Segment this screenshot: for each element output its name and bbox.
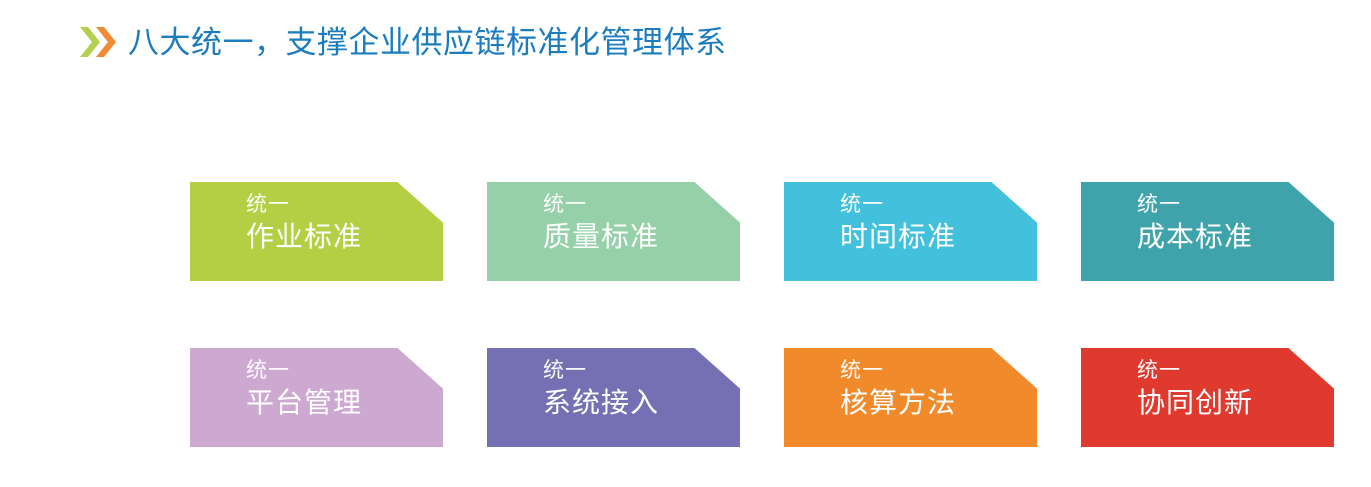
card-line-2: 成本标准 <box>1137 219 1334 255</box>
card-line-2: 系统接入 <box>543 385 740 421</box>
card-line-1: 统一 <box>1137 193 1334 217</box>
card-line-2: 作业标准 <box>246 219 443 255</box>
standard-card[interactable]: 统一 系统接入 <box>487 348 740 447</box>
standard-card[interactable]: 统一 成本标准 <box>1081 182 1334 281</box>
page-title: 八大统一，支撑企业供应链标准化管理体系 <box>128 27 727 58</box>
page-title-row: 八大统一，支撑企业供应链标准化管理体系 <box>78 18 727 66</box>
standard-card[interactable]: 统一 协同创新 <box>1081 348 1334 447</box>
card-line-2: 时间标准 <box>840 219 1037 255</box>
card-row-1: 统一 作业标准 统一 质量标准 统一 时间标准 统一 成本标准 <box>190 182 1337 281</box>
card-line-1: 统一 <box>1137 359 1334 383</box>
card-line-2: 协同创新 <box>1137 385 1334 421</box>
standard-card[interactable]: 统一 质量标准 <box>487 182 740 281</box>
unified-standards-grid: 统一 作业标准 统一 质量标准 统一 时间标准 统一 成本标准 统一 平台管理 … <box>190 182 1337 447</box>
standard-card[interactable]: 统一 作业标准 <box>190 182 443 281</box>
card-line-2: 核算方法 <box>840 385 1037 421</box>
card-line-1: 统一 <box>246 193 443 217</box>
card-line-2: 平台管理 <box>246 385 443 421</box>
card-line-1: 统一 <box>543 359 740 383</box>
card-line-2: 质量标准 <box>543 219 740 255</box>
card-line-1: 统一 <box>543 193 740 217</box>
standard-card[interactable]: 统一 平台管理 <box>190 348 443 447</box>
double-chevron-icon <box>78 24 118 60</box>
card-line-1: 统一 <box>246 359 443 383</box>
standard-card[interactable]: 统一 时间标准 <box>784 182 1037 281</box>
card-row-2: 统一 平台管理 统一 系统接入 统一 核算方法 统一 协同创新 <box>190 348 1337 447</box>
card-line-1: 统一 <box>840 193 1037 217</box>
standard-card[interactable]: 统一 核算方法 <box>784 348 1037 447</box>
card-line-1: 统一 <box>840 359 1037 383</box>
